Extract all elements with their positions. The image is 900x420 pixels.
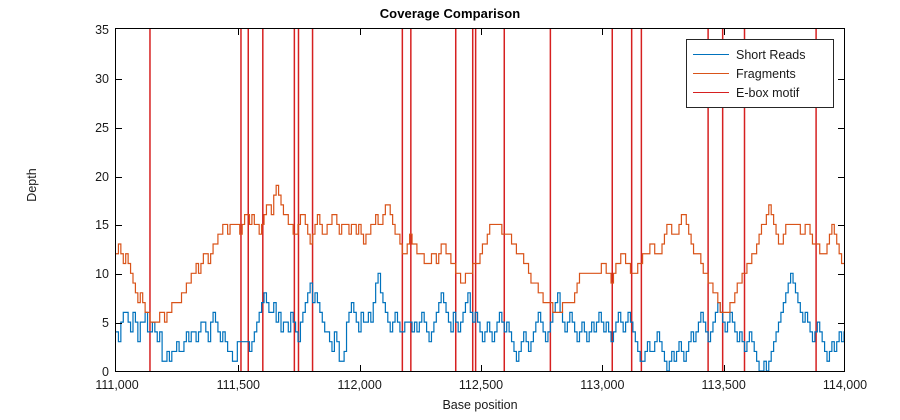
chart-legend: Short ReadsFragmentsE-box motif: [686, 39, 834, 108]
x-tick-mark: [481, 365, 482, 371]
y-tick-label: 5: [102, 316, 116, 330]
legend-item[interactable]: Short Reads: [693, 45, 827, 64]
x-tick-label: 112,000: [338, 371, 382, 392]
y-tick-mark: [116, 79, 122, 80]
y-tick-label: 10: [95, 267, 116, 281]
y-tick-mark: [116, 128, 122, 129]
x-tick-mark-top: [238, 29, 239, 35]
x-tick-label: 112,500: [459, 371, 503, 392]
y-tick-mark-right: [838, 128, 844, 129]
legend-label: Fragments: [736, 67, 796, 81]
x-tick-label: 114,000: [823, 371, 867, 392]
y-tick-label: 30: [95, 72, 116, 86]
x-tick-mark-top: [360, 29, 361, 35]
y-tick-label: 20: [95, 170, 116, 184]
x-tick-label: 111,500: [217, 371, 260, 392]
series-lines-group: [116, 185, 844, 371]
x-tick-mark: [724, 365, 725, 371]
y-tick-label: 35: [95, 23, 116, 37]
series-path: [116, 273, 844, 371]
y-tick-mark: [116, 225, 122, 226]
y-tick-mark-right: [838, 225, 844, 226]
y-tick-mark: [116, 274, 122, 275]
legend-label: Short Reads: [736, 48, 805, 62]
y-tick-mark-right: [838, 79, 844, 80]
chart-figure: Coverage Comparison 05101520253035 111,0…: [0, 0, 900, 420]
x-tick-label: 113,500: [702, 371, 746, 392]
y-tick-mark: [116, 323, 122, 324]
x-tick-mark: [238, 365, 239, 371]
x-tick-label: 111,000: [95, 371, 138, 392]
legend-item[interactable]: Fragments: [693, 64, 827, 83]
x-tick-mark-top: [481, 29, 482, 35]
y-tick-mark-right: [838, 274, 844, 275]
legend-swatch: [693, 92, 729, 93]
x-tick-mark: [360, 365, 361, 371]
x-tick-mark-top: [724, 29, 725, 35]
y-tick-mark-right: [838, 323, 844, 324]
x-axis-label: Base position: [115, 398, 845, 412]
y-tick-mark-right: [838, 177, 844, 178]
series-path: [116, 185, 844, 332]
legend-swatch: [693, 73, 729, 74]
y-axis-label: Depth: [25, 125, 39, 245]
legend-item[interactable]: E-box motif: [693, 83, 827, 102]
x-tick-mark: [602, 365, 603, 371]
y-tick-mark: [116, 177, 122, 178]
legend-label: E-box motif: [736, 86, 799, 100]
chart-title: Coverage Comparison: [0, 6, 900, 21]
x-tick-mark-top: [602, 29, 603, 35]
x-tick-label: 113,000: [580, 371, 624, 392]
legend-swatch: [693, 54, 729, 55]
y-tick-label: 15: [95, 218, 116, 232]
y-tick-label: 25: [95, 121, 116, 135]
